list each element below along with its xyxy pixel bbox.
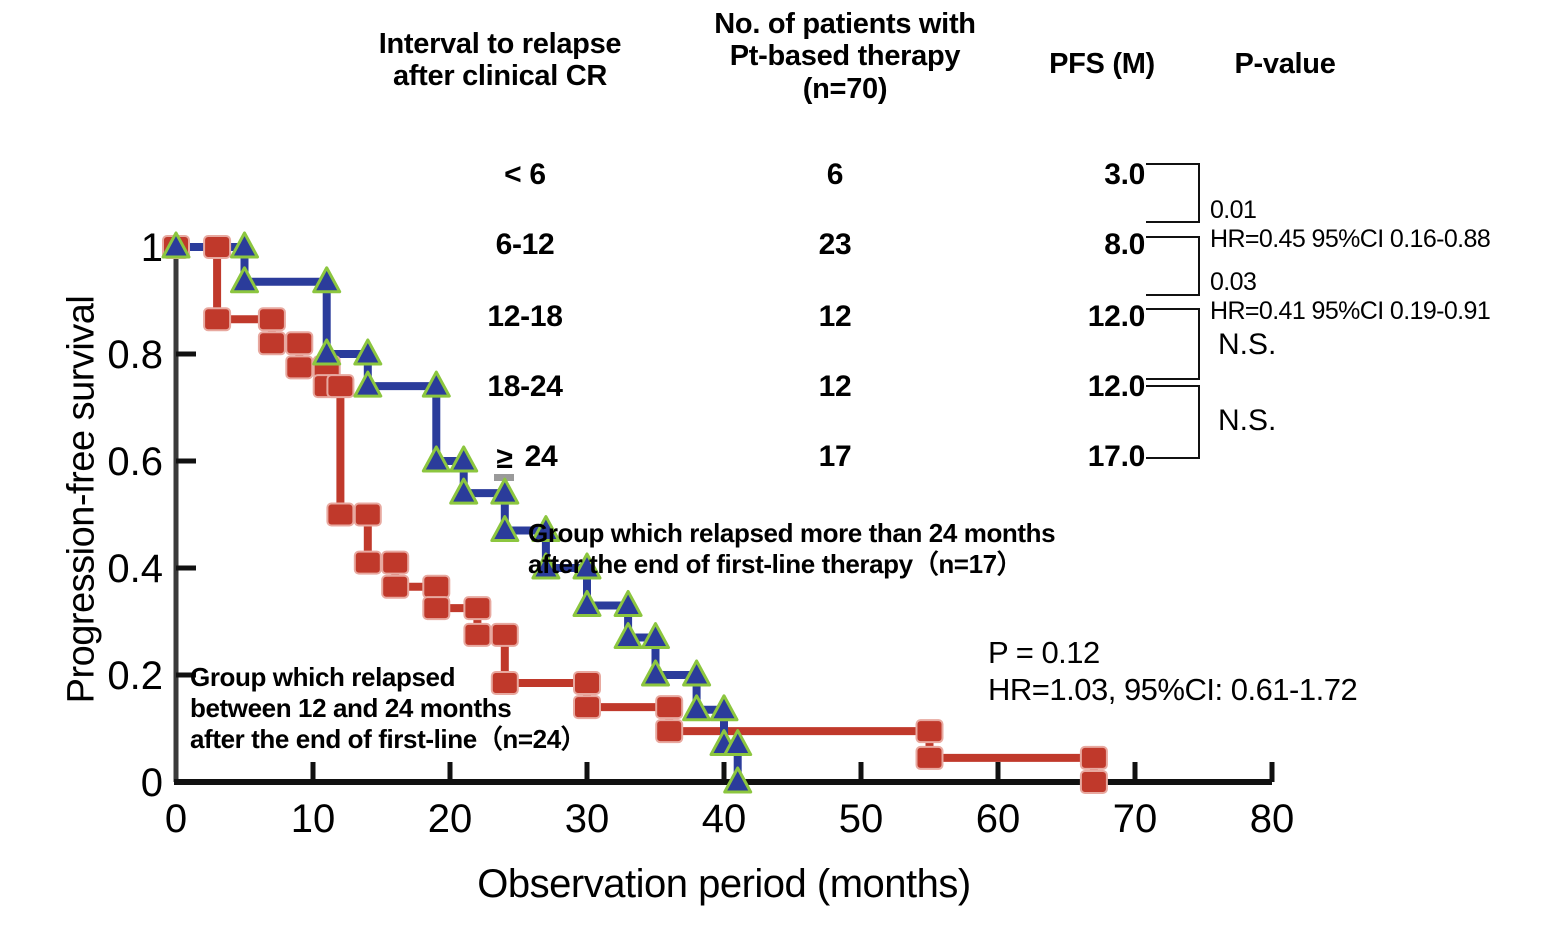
x-tick-10: 10 — [291, 797, 336, 841]
annotation-red-line1: Group which relapsed — [190, 662, 586, 693]
annotation-stat-pvalue: P = 0.12 — [988, 634, 1357, 671]
annotation-blue-line2: after the end of first-line therapy（n=17… — [528, 549, 1055, 580]
x-tick-0: 0 — [165, 797, 187, 841]
x-tick-40: 40 — [702, 797, 747, 841]
annotation-red-line2: between 12 and 24 months — [190, 693, 586, 724]
chart-page: Interval to relapse after clinical CR No… — [0, 0, 1559, 940]
x-tick-labels: 0 10 20 30 40 50 60 70 80 — [165, 797, 1294, 841]
y-tick-0.6: 0.6 — [107, 440, 163, 484]
annotation-blue-line1: Group which relapsed more than 24 months — [528, 518, 1055, 549]
km-plot: 0 0.2 0.4 0.6 0.8 1 0 10 20 30 40 50 60 … — [0, 0, 1559, 940]
y-axis-title: Progression-free survival — [61, 220, 104, 780]
annotation-red-group: Group which relapsed between 12 and 24 m… — [190, 662, 586, 756]
y-tick-0.2: 0.2 — [107, 654, 163, 698]
x-axis-title: Observation period (months) — [176, 862, 1272, 907]
x-tick-50: 50 — [839, 797, 884, 841]
annotation-blue-group: Group which relapsed more than 24 months… — [528, 518, 1055, 580]
x-tick-60: 60 — [976, 797, 1021, 841]
y-tick-1: 1 — [141, 226, 163, 270]
y-tick-0.4: 0.4 — [107, 547, 163, 591]
y-tick-0.8: 0.8 — [107, 333, 163, 377]
x-tick-20: 20 — [428, 797, 473, 841]
annotation-red-line3: after the end of first-line（n=24） — [190, 724, 586, 755]
annotation-stat-hr: HR=1.03, 95%CI: 0.61-1.72 — [988, 671, 1357, 708]
x-tick-30: 30 — [565, 797, 610, 841]
x-tick-70: 70 — [1113, 797, 1158, 841]
annotation-overall-statistics: P = 0.12 HR=1.03, 95%CI: 0.61-1.72 — [988, 634, 1357, 708]
y-tick-labels: 0 0.2 0.4 0.6 0.8 1 — [107, 226, 163, 805]
y-tick-0: 0 — [141, 761, 163, 805]
x-tick-80: 80 — [1250, 797, 1295, 841]
